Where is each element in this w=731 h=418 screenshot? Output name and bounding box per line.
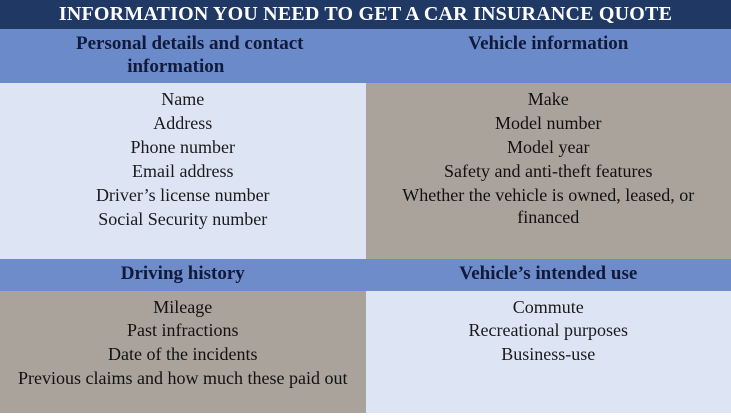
vehicle-information-list: Make Model number Model year Safety and … [366,83,731,259]
header-vehicle-information: Vehicle information [366,29,731,83]
list-item: Make [372,88,726,112]
list-item: Name [6,88,360,112]
section-2-body-row: Mileage Past infractions Date of the inc… [0,291,731,413]
section-2-header-row: Driving history Vehicle’s intended use [0,259,731,290]
list-item: Phone number [6,136,360,160]
list-item: Past infractions [6,319,360,343]
list-item: Business-use [372,343,726,367]
section-1-body-row: Name Address Phone number Email address … [0,83,731,259]
list-item: Recreational purposes [372,319,726,343]
header-personal-details-label: Personal details and contact information [62,33,303,77]
list-item: Date of the incidents [6,343,360,367]
list-item: Social Security number [6,208,360,232]
list-item: Email address [6,160,360,184]
header-personal-details: Personal details and contact information [0,29,366,83]
list-item: Driver’s license number [6,184,360,208]
driving-history-list: Mileage Past infractions Date of the inc… [0,291,366,413]
section-1-header-row: Personal details and contact information… [0,29,731,83]
personal-details-list: Name Address Phone number Email address … [0,83,366,259]
header-vehicle-intended-use: Vehicle’s intended use [366,259,731,290]
header-driving-history: Driving history [0,259,366,290]
list-item: Mileage [6,296,360,320]
list-item: Previous claims and how much these paid … [6,367,360,391]
list-item: Model number [372,112,726,136]
list-item: Whether the vehicle is owned, leased, or… [372,184,726,230]
table-title: INFORMATION YOU NEED TO GET A CAR INSURA… [0,0,731,29]
list-item: Address [6,112,360,136]
list-item: Safety and anti-theft features [372,160,726,184]
vehicle-intended-use-list: Commute Recreational purposes Business-u… [366,291,731,413]
list-item: Commute [372,296,726,320]
list-item: Model year [372,136,726,160]
insurance-info-table: INFORMATION YOU NEED TO GET A CAR INSURA… [0,0,731,418]
